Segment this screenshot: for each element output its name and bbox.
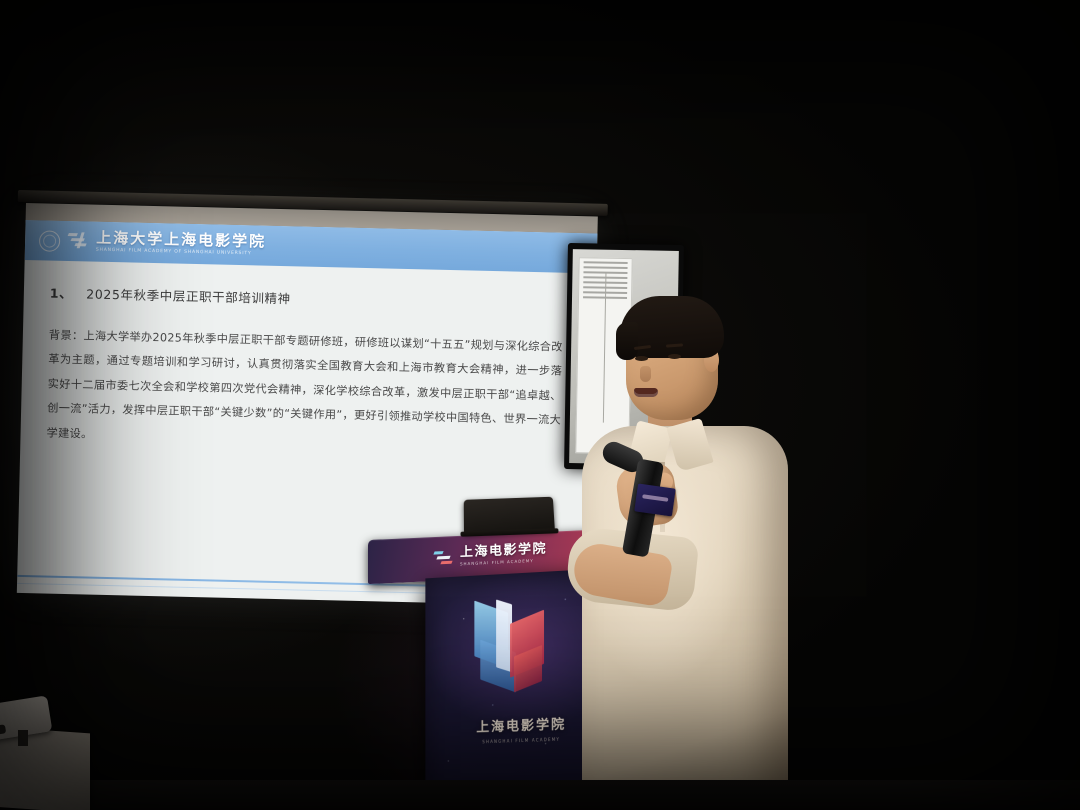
presenter	[560, 296, 850, 810]
presenter-mouth	[634, 388, 658, 397]
slide-paragraph: 背景：上海大学举办2025年秋季中层正职干部专题研修班，研修班以谋划“十五五”规…	[46, 324, 569, 458]
podium-front-text: 上海电影学院 SHANGHAI FILM ACADEMY	[460, 542, 547, 566]
microphone-branding-flag	[634, 483, 676, 516]
projector-stem	[18, 730, 28, 746]
stage-floor	[0, 780, 1080, 810]
presenter-nose	[640, 366, 651, 382]
film-academy-mark-icon	[434, 548, 454, 566]
slide-title: 1、 2025年秋季中层正职干部培训精神	[50, 283, 570, 314]
slide-body: 1、 2025年秋季中层正职干部培训精神 背景：上海大学举办2025年秋季中层正…	[20, 260, 596, 459]
projector-cart	[0, 700, 114, 810]
presenter-eye-right	[668, 354, 681, 359]
page-title: 2025年秋季中层正职干部培训精神	[86, 283, 291, 307]
projector-lens-icon	[0, 724, 6, 735]
presenter-eye-left	[635, 356, 648, 361]
monitor-text-line	[584, 266, 628, 269]
cart-box	[0, 727, 90, 810]
slide-header-title-cn: 上海大学上海电影学院	[96, 230, 266, 249]
photo-scene: 上海大学上海电影学院 SHANGHAI FILM ACADEMY OF SHAN…	[0, 0, 1080, 810]
film-academy-mark-icon	[67, 231, 89, 252]
slide-header-text: 上海大学上海电影学院 SHANGHAI FILM ACADEMY OF SHAN…	[96, 230, 266, 256]
slide-title-number: 1、	[50, 283, 73, 303]
university-seal-icon	[39, 230, 60, 251]
handheld-microphone	[602, 446, 722, 564]
monitor-text-line	[584, 261, 628, 264]
open-laptop	[459, 496, 558, 541]
podium-front-title-cn: 上海电影学院	[460, 542, 547, 559]
shanghai-film-academy-emblem-icon	[466, 597, 562, 705]
